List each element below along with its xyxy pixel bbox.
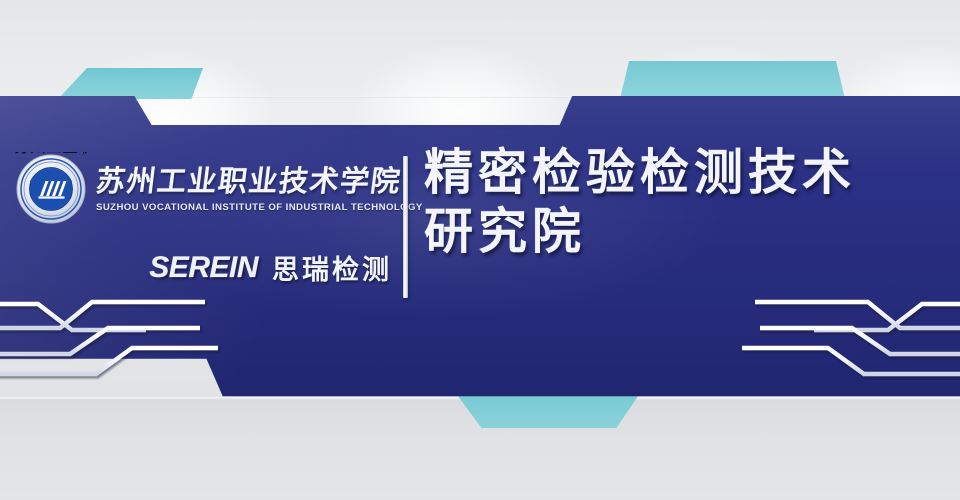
title-divider-rule: [403, 156, 408, 298]
crest-ring-text: 苏州工业职业技术学院: [14, 152, 88, 156]
serein-wordmark: SEREIN: [149, 251, 258, 285]
university-name-en: SUZHOU VOCATIONAL INSTITUTE OF INDUSTRIA…: [96, 202, 423, 213]
institute-title-line-1: 精密检验检测技术: [424, 144, 944, 203]
partner-lockup: SEREIN 思瑞检测: [14, 248, 396, 287]
teal-trapezoid-bottom: [458, 396, 638, 428]
university-name-cn: 苏州工业职业技术学院: [94, 167, 424, 198]
signage-wall-scene: 苏州工业职业技术学院 苏州工业职业技术学院 SUZHOU VOCATIONAL …: [0, 0, 960, 500]
serein-name-cn: 思瑞检测: [272, 248, 392, 287]
university-lockup: 苏州工业职业技术学院 苏州工业职业技术学院 SUZHOU VOCATIONAL …: [14, 152, 396, 226]
board-content: 苏州工业职业技术学院 苏州工业职业技术学院 SUZHOU VOCATIONAL …: [0, 96, 960, 398]
university-crest-icon: 苏州工业职业技术学院: [14, 152, 88, 226]
institute-title-line-2: 研究院: [424, 203, 944, 262]
teal-trapezoid-right: [620, 61, 845, 99]
left-logo-column: 苏州工业职业技术学院 苏州工业职业技术学院 SUZHOU VOCATIONAL …: [14, 152, 396, 287]
university-text-block: 苏州工业职业技术学院 SUZHOU VOCATIONAL INSTITUTE O…: [96, 165, 423, 214]
institute-title: 精密检验检测技术 研究院: [424, 144, 944, 262]
